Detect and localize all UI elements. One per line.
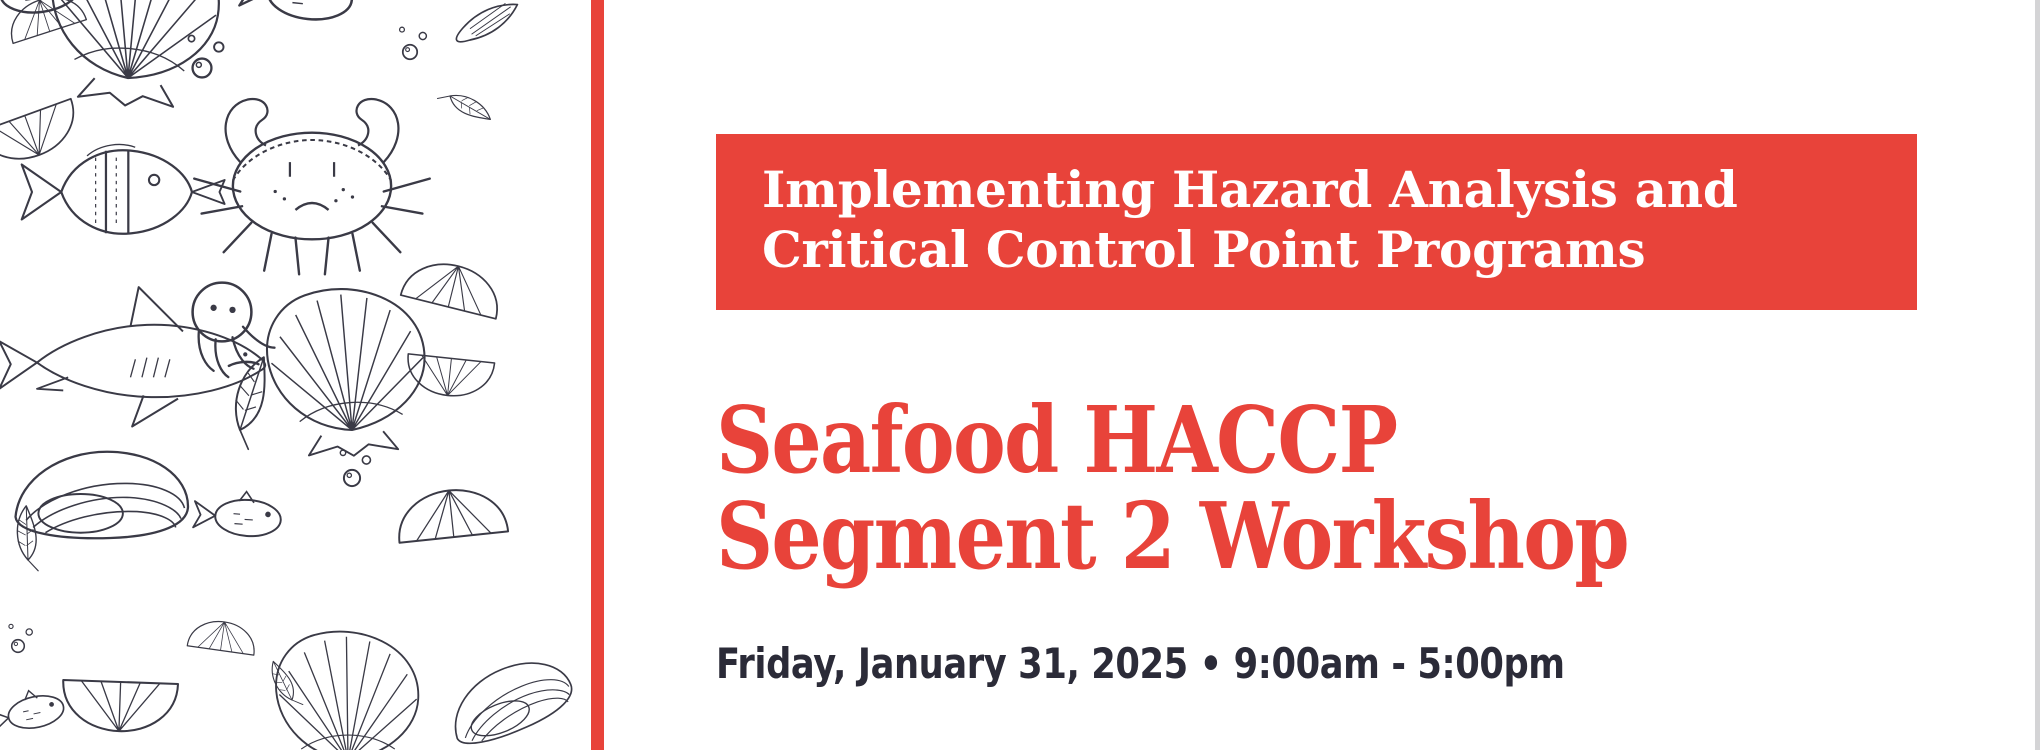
headline-line-1: Seafood HACCP (716, 392, 1834, 488)
event-flyer: Implementing Hazard Analysis and Critica… (0, 0, 2040, 750)
seafood-illustration-panel (0, 0, 591, 750)
kicker-banner: Implementing Hazard Analysis and Critica… (716, 134, 1917, 310)
kicker-line-2: Critical Control Point Programs (762, 220, 1871, 280)
page-title: Seafood HACCP Segment 2 Workshop (716, 392, 2016, 584)
event-datetime: Friday, January 31, 2025 • 9:00am - 5:00… (716, 640, 1565, 688)
red-vertical-divider (591, 0, 604, 750)
content-panel: Implementing Hazard Analysis and Critica… (604, 0, 2035, 750)
headline-line-2: Segment 2 Workshop (716, 488, 1834, 584)
seafood-pattern-artwork (0, 0, 591, 750)
kicker-line-1: Implementing Hazard Analysis and (762, 160, 1871, 220)
